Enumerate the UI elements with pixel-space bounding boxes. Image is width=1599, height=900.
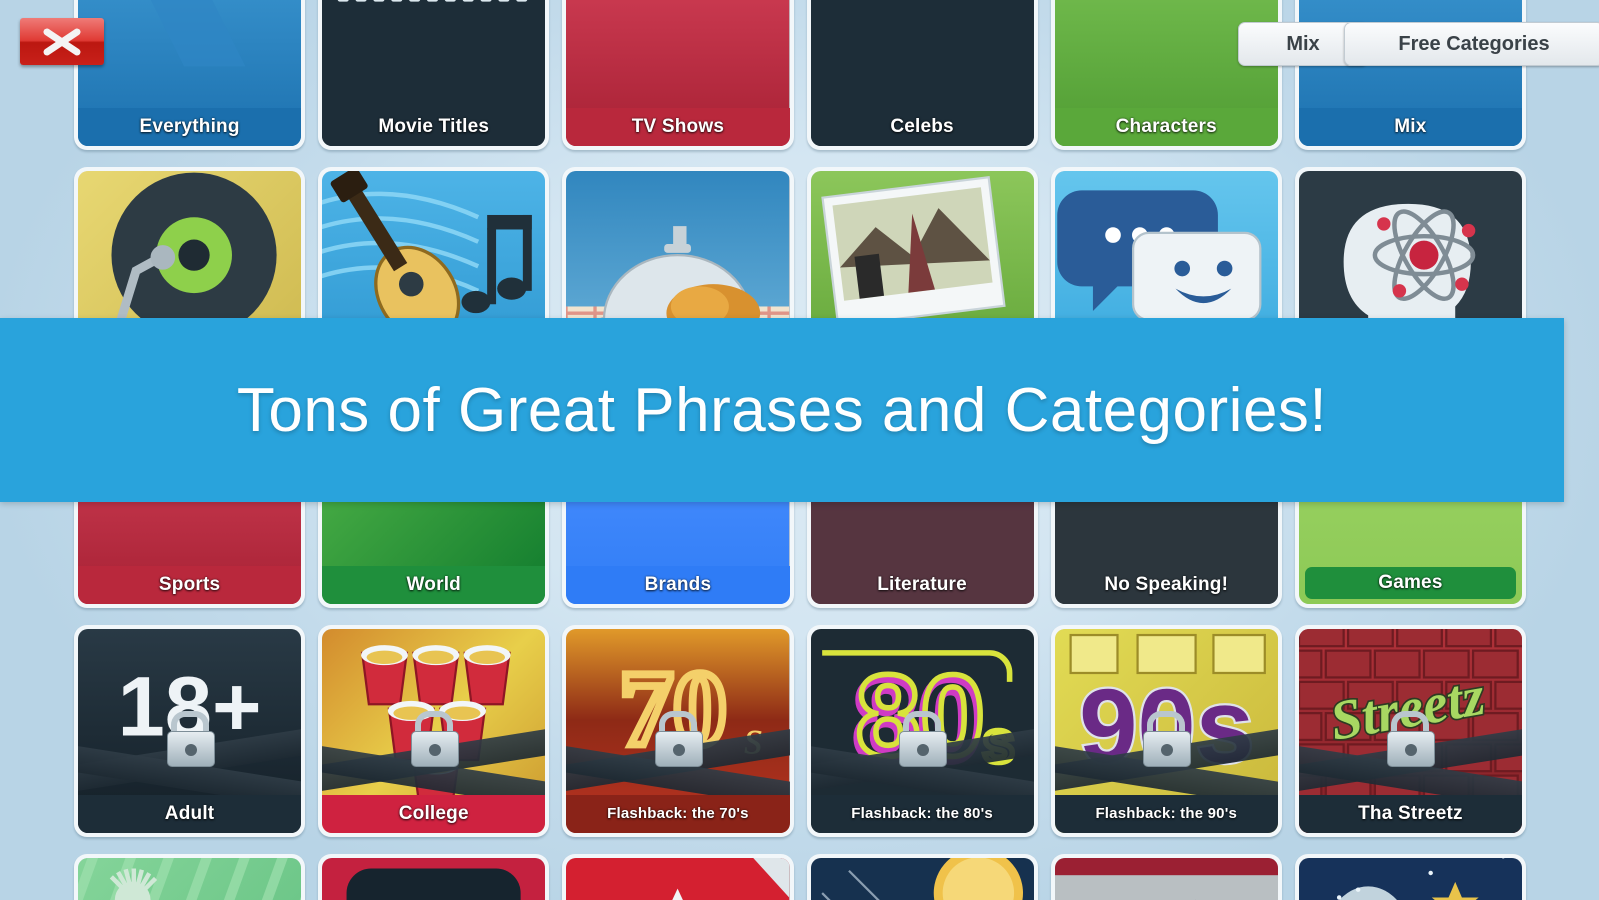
tile-inner: TV Shows <box>566 0 789 146</box>
lock-icon <box>655 711 701 767</box>
tile-inner: 90sFlashback: the 90's <box>1055 629 1278 833</box>
tile-label: Brands <box>566 566 789 604</box>
tile-inner: 70sFlashback: the 70's <box>566 629 789 833</box>
lock-icon <box>1143 711 1189 767</box>
tile-label: Flashback: the 70's <box>566 795 789 833</box>
category-tile[interactable]: 18+Adult <box>74 625 305 837</box>
category-tile[interactable]: Celebs <box>807 0 1038 150</box>
category-tile[interactable]: 90sFlashback: the 90's <box>1051 625 1282 837</box>
tile-inner: College <box>322 629 545 833</box>
tile-inner: Movie Titles <box>322 0 545 146</box>
category-tile[interactable]: Everything <box>74 0 305 150</box>
tile-inner <box>1055 858 1278 900</box>
mountains-icon <box>1055 858 1278 900</box>
category-tile[interactable]: Movie Titles <box>318 0 549 150</box>
close-icon[interactable] <box>20 18 104 65</box>
tile-label: Movie Titles <box>322 108 545 146</box>
lock-icon <box>899 711 945 767</box>
liberty-icon <box>78 858 301 900</box>
app-screen: EverythingMovie TitlesTV ShowsCelebsChar… <box>0 0 1599 900</box>
category-tile[interactable]: 70sFlashback: the 70's <box>562 625 793 837</box>
category-tile[interactable] <box>562 854 793 900</box>
tile-label: World <box>322 566 545 604</box>
tile-inner <box>811 858 1034 900</box>
lock-icon <box>1387 711 1433 767</box>
tile-label: Everything <box>78 108 301 146</box>
category-tile[interactable] <box>1295 854 1526 900</box>
tile-label: Flashback: the 80's <box>811 795 1034 833</box>
free-categories-button[interactable]: Free Categories <box>1344 22 1599 66</box>
tile-inner <box>78 858 301 900</box>
tile-inner <box>1299 858 1522 900</box>
category-tile[interactable] <box>807 854 1038 900</box>
category-tile[interactable] <box>1051 854 1282 900</box>
tile-inner: StreetzTha Streetz <box>1299 629 1522 833</box>
tile-label: College <box>322 795 545 833</box>
tile-label: Characters <box>1055 108 1278 146</box>
category-tile[interactable]: StreetzTha Streetz <box>1295 625 1526 837</box>
tile-label: No Speaking! <box>1055 566 1278 604</box>
holiday-icon <box>1299 858 1522 900</box>
lock-icon <box>167 711 213 767</box>
tile-label: Literature <box>811 566 1034 604</box>
olive-icon <box>322 858 545 900</box>
promo-banner: Tons of Great Phrases and Categories! <box>0 318 1564 502</box>
redtri-icon <box>566 858 789 900</box>
tile-inner: 18+Adult <box>78 629 301 833</box>
tile-label: Mix <box>1299 108 1522 146</box>
tile-label: Adult <box>78 795 301 833</box>
tile-inner: Everything <box>78 0 301 146</box>
promo-banner-text: Tons of Great Phrases and Categories! <box>237 375 1327 446</box>
tile-inner: 8080sFlashback: the 80's <box>811 629 1034 833</box>
category-tile[interactable] <box>74 854 305 900</box>
tile-label: Flashback: the 90's <box>1055 795 1278 833</box>
category-tile[interactable]: 8080sFlashback: the 80's <box>807 625 1038 837</box>
category-tile[interactable]: College <box>318 625 549 837</box>
tile-label: Sports <box>78 566 301 604</box>
tile-label: Tha Streetz <box>1299 795 1522 833</box>
tile-label: TV Shows <box>566 108 789 146</box>
tile-inner: Celebs <box>811 0 1034 146</box>
lock-icon <box>411 711 457 767</box>
tile-inner <box>566 858 789 900</box>
tile-label: Games <box>1305 567 1516 599</box>
category-tile[interactable] <box>318 854 549 900</box>
tile-label: Celebs <box>811 108 1034 146</box>
category-tile[interactable]: TV Shows <box>562 0 793 150</box>
tile-inner <box>322 858 545 900</box>
night-icon <box>811 858 1034 900</box>
